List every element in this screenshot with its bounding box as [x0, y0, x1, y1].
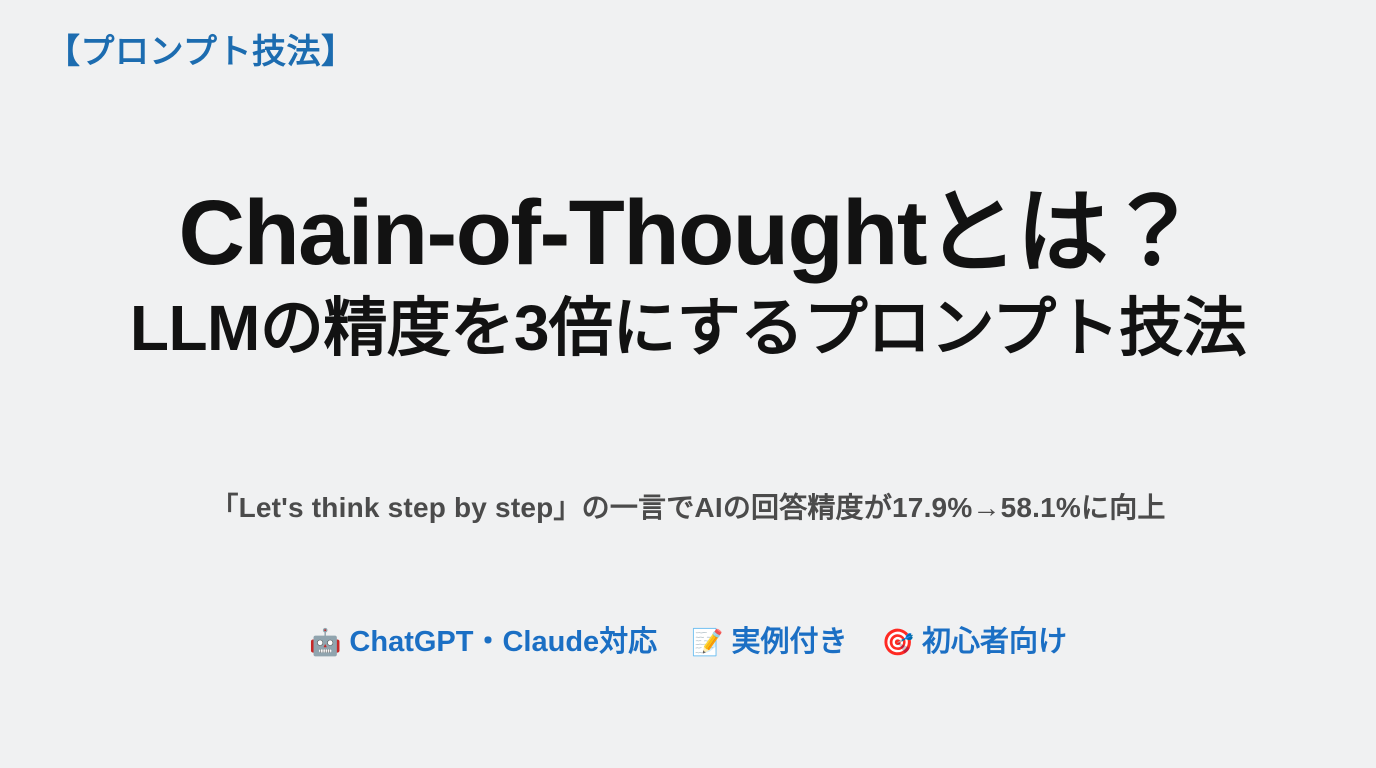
- page-title: Chain-of-Thoughtとは？: [0, 185, 1376, 283]
- feature-badge-chatgpt-claude: 🤖 ChatGPT・Claude対応: [309, 628, 657, 657]
- feature-badge-row: 🤖 ChatGPT・Claude対応 📝 実例付き 🎯 初心者向け: [0, 628, 1376, 657]
- memo-icon: 📝: [691, 630, 723, 656]
- slide-canvas: 【プロンプト技法】 Chain-of-Thoughtとは？ LLMの精度を3倍に…: [0, 0, 1376, 768]
- feature-badge-label: 初心者向け: [922, 628, 1067, 657]
- feature-badge-label: 実例付き: [732, 628, 848, 657]
- page-subtitle: LLMの精度を3倍にするプロンプト技法: [0, 291, 1376, 367]
- feature-badge-beginner: 🎯 初心者向け: [882, 628, 1067, 657]
- dart-icon: 🎯: [882, 630, 914, 656]
- description-text: 「Let's think step by step」の一言でAIの回答精度が17…: [0, 490, 1376, 526]
- robot-icon: 🤖: [309, 630, 341, 656]
- feature-badge-examples: 📝 実例付き: [691, 628, 847, 657]
- feature-badge-label: ChatGPT・Claude対応: [349, 628, 657, 657]
- headline-block: Chain-of-Thoughtとは？ LLMの精度を3倍にするプロンプト技法: [0, 185, 1376, 366]
- category-badge: 【プロンプト技法】: [46, 32, 355, 73]
